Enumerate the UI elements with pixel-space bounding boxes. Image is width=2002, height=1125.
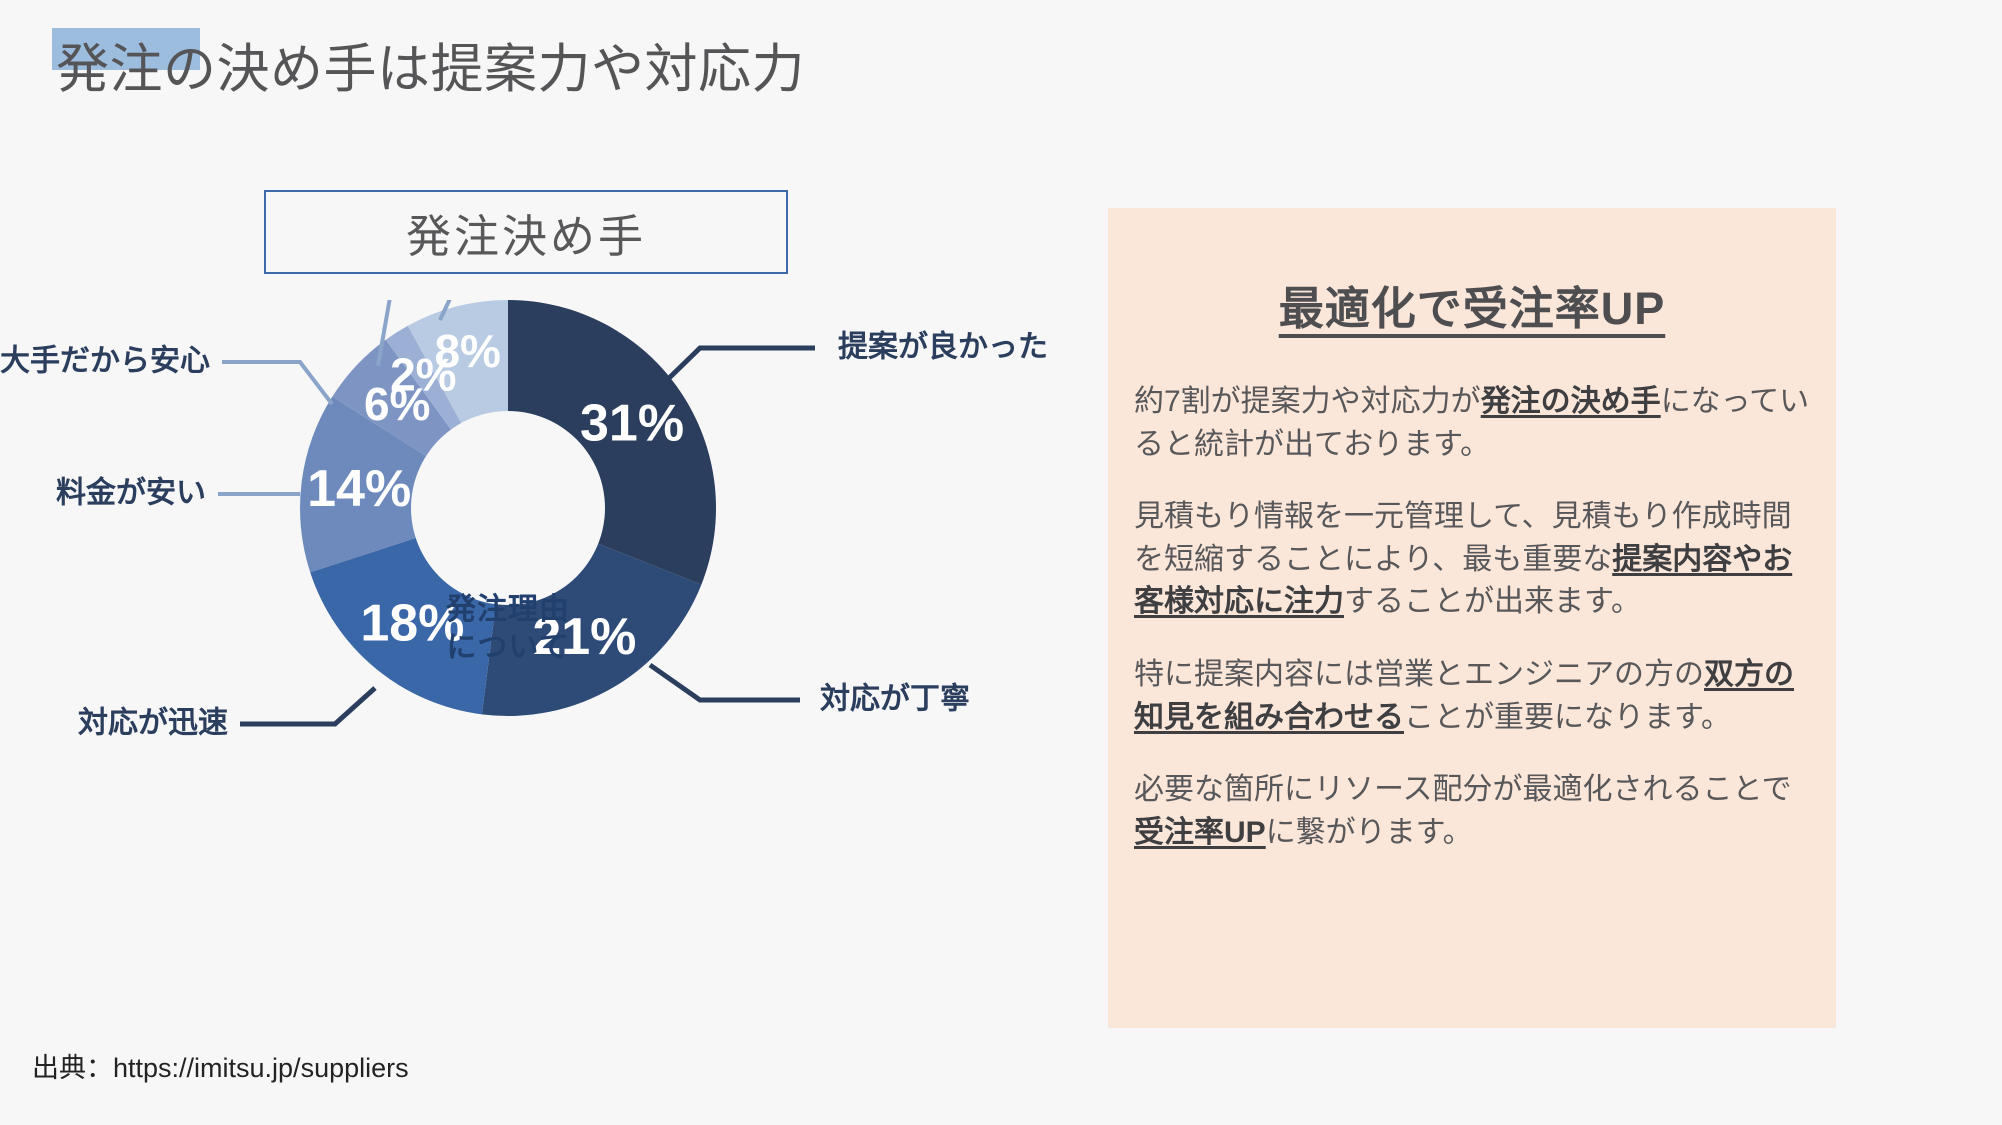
donut-category-label: 大手だから安心 bbox=[0, 345, 210, 378]
chart-title-label: 発注決め手 bbox=[406, 200, 646, 265]
donut-slice-percent: 8% bbox=[434, 325, 500, 377]
donut-leader-line bbox=[240, 688, 375, 724]
paragraph-text: 必要な箇所にリソース配分が最適化されることで bbox=[1134, 773, 1792, 806]
info-panel-heading: 最適化で受注率UP bbox=[1134, 272, 1810, 337]
donut-chart-svg: 31%21%18%14%6%2%8% 提案が良かった対応が丁寧対応が迅速料金が安… bbox=[0, 300, 1090, 940]
info-panel-paragraph: 特に提案内容には営業とエンジニアの方の双方の知見を組み合わせることが重要になりま… bbox=[1134, 654, 1810, 739]
source-citation: 出典：https://imitsu.jp/suppliers bbox=[32, 1046, 409, 1085]
info-panel-paragraph: 必要な箇所にリソース配分が最適化されることで受注率UPに繋がります。 bbox=[1134, 769, 1810, 854]
donut-category-label: 対応が迅速 bbox=[78, 706, 228, 740]
donut-chart: 31%21%18%14%6%2%8% 提案が良かった対応が丁寧対応が迅速料金が安… bbox=[0, 300, 1090, 940]
paragraph-text: 約7割が提案力や対応力が bbox=[1134, 385, 1481, 418]
paragraph-text: することが出来ます。 bbox=[1344, 585, 1641, 618]
donut-leader-line bbox=[665, 348, 815, 382]
emphasized-phrase: 受注率UP bbox=[1134, 816, 1266, 849]
page-title: 発注の決め手は提案力や対応力 bbox=[56, 40, 805, 99]
donut-category-label: 料金が安い bbox=[56, 476, 206, 510]
donut-leader-line bbox=[650, 665, 800, 700]
info-panel-paragraph: 約7割が提案力や対応力が発注の決め手になっていると統計が出ております。 bbox=[1134, 381, 1810, 466]
info-panel: 最適化で受注率UP 約7割が提案力や対応力が発注の決め手になっていると統計が出て… bbox=[1108, 208, 1836, 1028]
paragraph-text: に繋がります。 bbox=[1266, 816, 1473, 849]
donut-category-label: リファラル bbox=[150, 300, 300, 302]
info-panel-body: 約7割が提案力や対応力が発注の決め手になっていると統計が出ております。見積もり情… bbox=[1134, 381, 1810, 854]
donut-slice-percent: 18% bbox=[360, 595, 464, 653]
donut-hole bbox=[411, 411, 605, 605]
donut-slice-percent: 21% bbox=[532, 608, 636, 666]
donut-category-label: 提案が良かった bbox=[838, 330, 1048, 364]
donut-category-label: 対応が丁寧 bbox=[820, 682, 970, 716]
info-panel-paragraph: 見積もり情報を一元管理して、見積もり作成時間を短縮することにより、最も重要な提案… bbox=[1134, 496, 1810, 624]
donut-slice-percent: 14% bbox=[307, 460, 411, 518]
chart-title-box: 発注決め手 bbox=[264, 190, 788, 274]
page-title-block: 発注の決め手は提案力や対応力 bbox=[52, 20, 1052, 110]
paragraph-text: 特に提案内容には営業とエンジニアの方の bbox=[1134, 658, 1704, 691]
donut-leader-line bbox=[222, 362, 332, 404]
donut-leader-line bbox=[312, 300, 392, 366]
paragraph-text: ことが重要になります。 bbox=[1404, 701, 1731, 734]
donut-slice-percent: 31% bbox=[580, 395, 684, 453]
emphasized-phrase: 発注の決め手 bbox=[1481, 385, 1661, 418]
